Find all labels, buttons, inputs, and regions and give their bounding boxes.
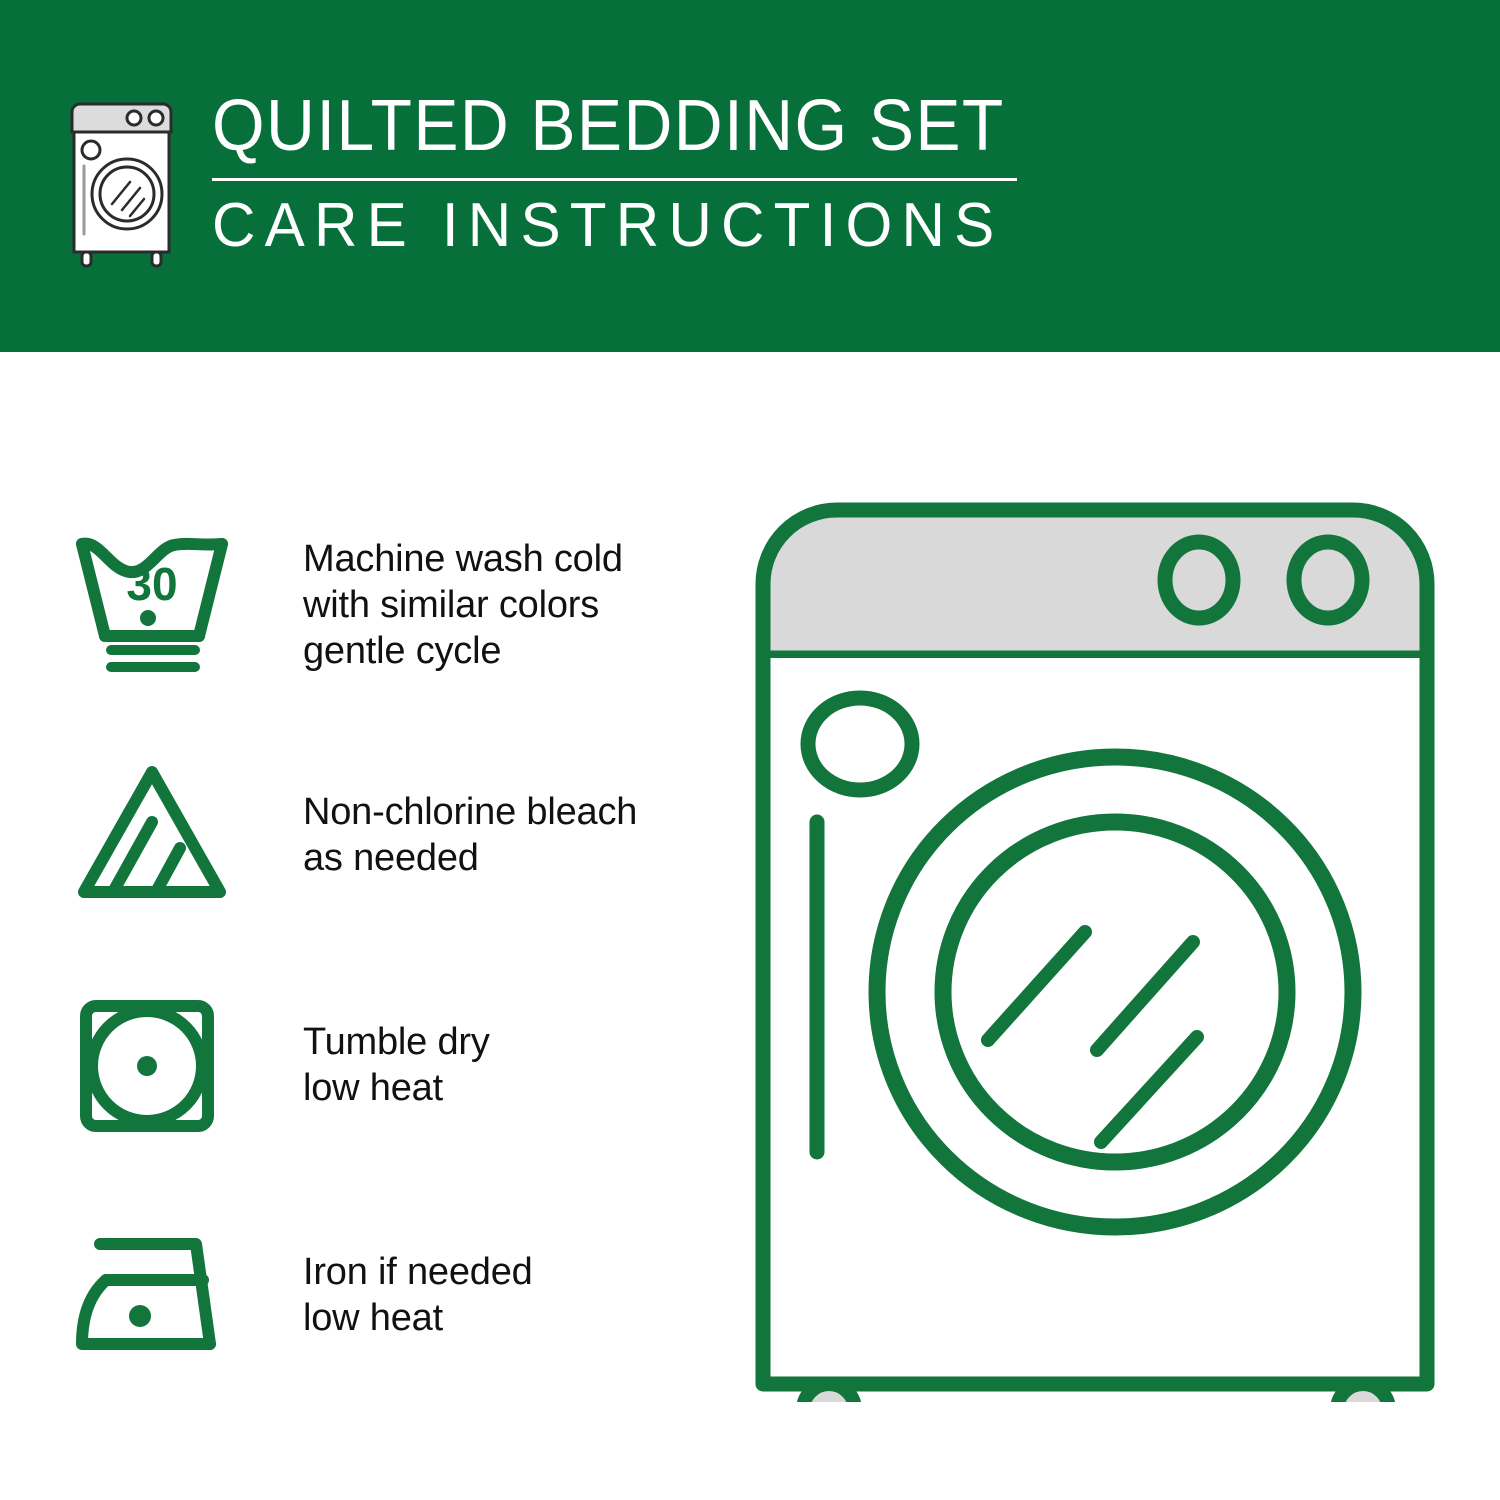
care-text-line: Tumble dry — [303, 1019, 490, 1065]
machine-door-inner-ring — [943, 822, 1287, 1162]
washing-machine-icon — [60, 94, 190, 269]
care-text-line: Iron if needed — [303, 1249, 533, 1295]
tumble-dry-low-heat-icon — [70, 990, 235, 1140]
care-instruction-row: Iron if needed low heat — [70, 1202, 710, 1387]
page-title: QUILTED BEDDING SET — [212, 88, 1005, 164]
machine-knob — [1165, 542, 1233, 618]
care-instruction-row: 30 Machine wash cold with similar colors… — [70, 512, 710, 697]
care-text-line: gentle cycle — [303, 628, 623, 674]
care-instruction-text: Non-chlorine bleach as needed — [303, 789, 637, 881]
body-area: 30 Machine wash cold with similar colors… — [0, 352, 1500, 1500]
care-instruction-row: Tumble dry low heat — [70, 972, 710, 1157]
iron-low-heat-icon — [70, 1220, 235, 1370]
washing-machine-illustration — [745, 492, 1445, 1402]
care-instruction-text: Iron if needed low heat — [303, 1249, 533, 1341]
machine-knob — [1294, 542, 1362, 618]
care-text-line: low heat — [303, 1295, 533, 1341]
header-text-block: QUILTED BEDDING SET CARE INSTRUCTIONS — [212, 88, 1055, 259]
machine-leg — [1337, 1384, 1389, 1402]
header-band: QUILTED BEDDING SET CARE INSTRUCTIONS — [0, 0, 1500, 352]
care-text-line: as needed — [303, 835, 637, 881]
care-instruction-text: Machine wash cold with similar colors ge… — [303, 536, 623, 674]
care-text-line: Machine wash cold — [303, 536, 623, 582]
care-text-line: with similar colors — [303, 582, 623, 628]
care-instruction-row: Non-chlorine bleach as needed — [70, 742, 710, 927]
care-instruction-list: 30 Machine wash cold with similar colors… — [70, 512, 710, 1387]
non-chlorine-bleach-icon — [70, 760, 235, 910]
machine-detergent-cap — [808, 698, 912, 790]
title-divider — [212, 178, 1017, 181]
page-subtitle: CARE INSTRUCTIONS — [212, 193, 1004, 259]
machine-wash-30-gentle-icon: 30 — [70, 530, 235, 680]
wash-temp-label: 30 — [126, 558, 177, 610]
care-text-line: Non-chlorine bleach — [303, 789, 637, 835]
machine-leg — [803, 1384, 855, 1402]
header-content: QUILTED BEDDING SET CARE INSTRUCTIONS — [60, 88, 1055, 269]
care-instruction-text: Tumble dry low heat — [303, 1019, 490, 1111]
care-text-line: low heat — [303, 1065, 490, 1111]
